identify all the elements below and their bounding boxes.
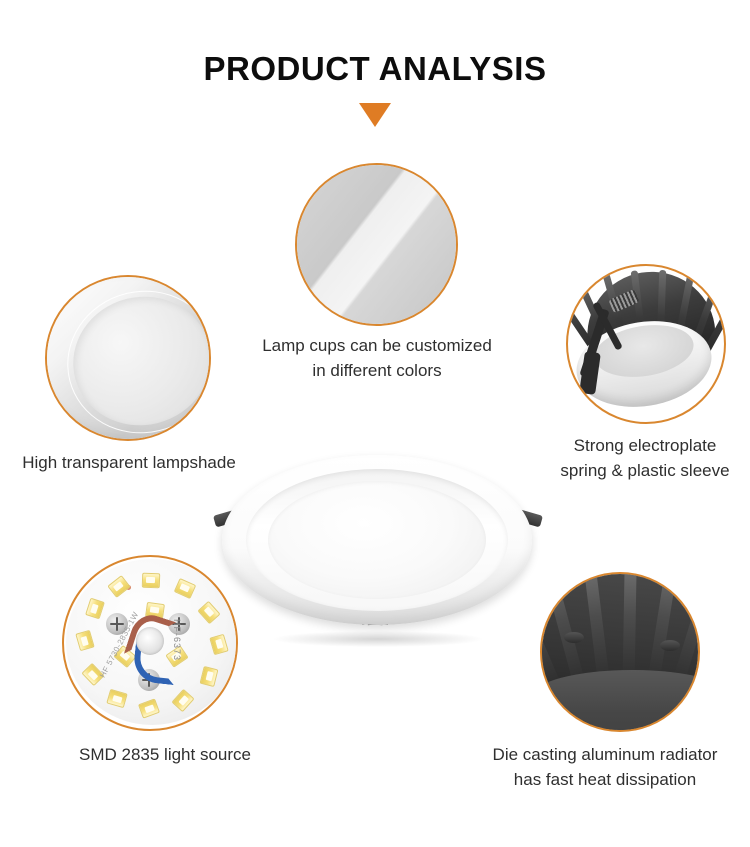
page-title: PRODUCT ANALYSIS [0, 50, 750, 88]
feature-caption-smd-source: SMD 2835 light source [45, 742, 285, 767]
feature-caption-spring-sleeve: Strong electroplate spring & plastic sle… [540, 433, 750, 483]
lamp-cup-macro-photo [297, 165, 456, 324]
aluminum-radiator-photo [542, 574, 698, 730]
triangle-down-icon [359, 103, 391, 127]
feature-caption-lamp-cups: Lamp cups can be customized in different… [232, 333, 522, 383]
pcb-code-label: HF-6373 [172, 619, 182, 661]
feature-caption-lampshade: High transparent lampshade [0, 450, 258, 475]
feature-circle-smd-source: HF-6373 HF 5730-2835-1W [62, 555, 238, 731]
feature-circle-lamp-cups [295, 163, 458, 326]
feature-circle-lampshade [45, 275, 211, 441]
feature-caption-radiator: Die casting aluminum radiator has fast h… [470, 742, 740, 792]
feature-circle-radiator [540, 572, 700, 732]
led-downlight-product-photo [222, 455, 532, 660]
product-analysis-infographic: PRODUCT ANALYSIS Lamp cups can be custom… [0, 0, 750, 847]
feature-circle-spring-sleeve [566, 264, 726, 424]
led-pcb-photo: HF-6373 HF 5730-2835-1W [64, 557, 236, 729]
spring-sleeve-photo [568, 266, 724, 422]
lampshade-photo [47, 277, 209, 439]
